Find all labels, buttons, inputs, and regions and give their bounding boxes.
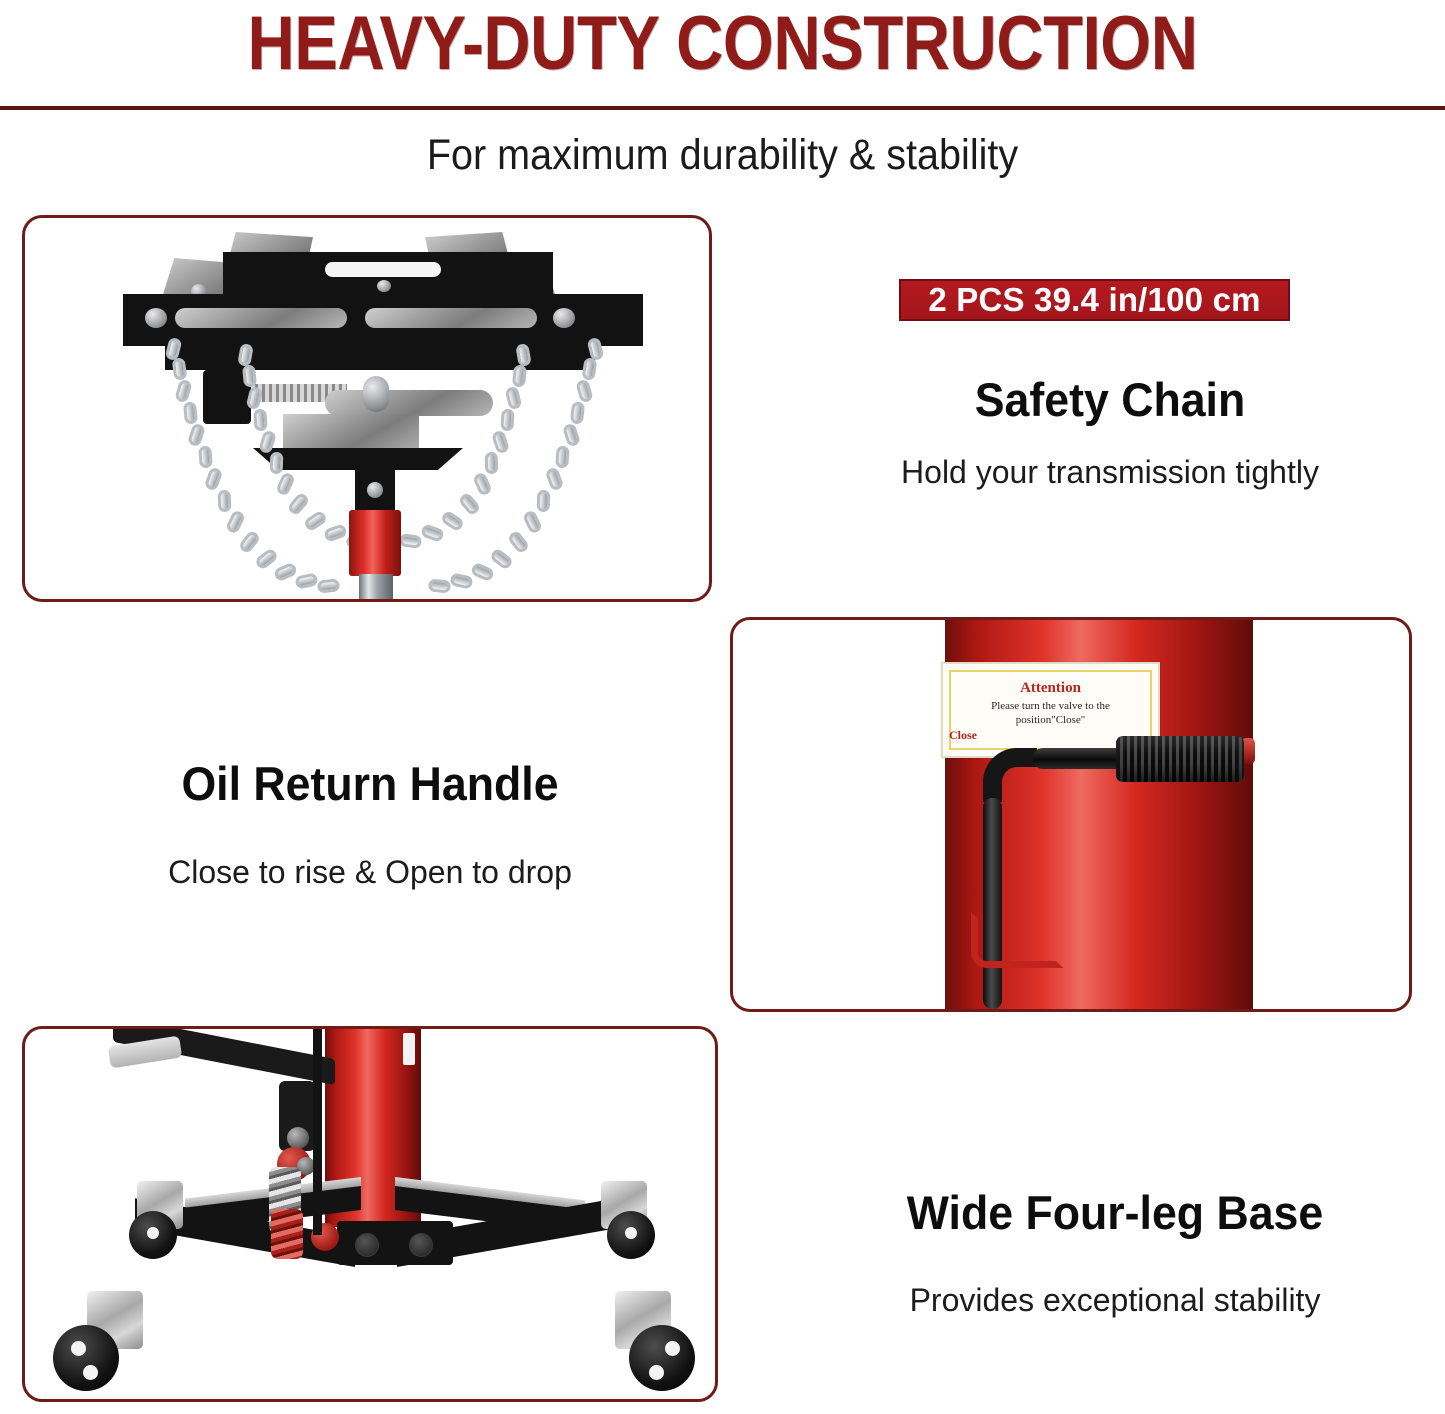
photo-panel-oil-return-handle: Attention Please turn the valve to the p… (730, 617, 1412, 1012)
feature-heading-four-leg-base: Wide Four-leg Base (844, 1185, 1386, 1241)
saddle-photo (25, 218, 709, 599)
pump-rod (313, 1029, 322, 1235)
photo-panel-safety-chain (22, 215, 712, 602)
chrome-ram (359, 574, 393, 602)
red-cylinder-collar (349, 510, 401, 576)
base-photo (25, 1029, 715, 1399)
page-subtitle: For maximum durability & stability (58, 128, 1387, 182)
feature-heading-oil-return-handle: Oil Return Handle (76, 756, 665, 812)
beam-bolt-right (553, 308, 575, 328)
handle-grip (1116, 736, 1244, 782)
saddle-beam-slot-right (365, 308, 537, 328)
caster-wheel-hole-fl-1 (71, 1341, 86, 1356)
header-divider (0, 106, 1445, 110)
handle-retaining-hook (971, 912, 1063, 968)
feature-subtitle-safety-chain: Hold your transmission tightly (830, 452, 1390, 492)
shaft-collar (363, 376, 389, 412)
attention-label-corner-text: Close (949, 728, 977, 743)
feature-subtitle-four-leg-base: Provides exceptional stability (830, 1280, 1400, 1320)
badge-safety-chain-length: 2 PCS 39.4 in/100 cm (899, 279, 1290, 321)
handle-photo: Attention Please turn the valve to the p… (733, 620, 1409, 1009)
caster-wheel-hole-fr-1 (665, 1341, 680, 1356)
attention-label-title: Attention (943, 680, 1158, 697)
saddle-rail-slot (325, 262, 441, 277)
attention-label-line1: Please turn the valve to the (943, 700, 1158, 713)
caster-wheel-hole-rl (147, 1227, 159, 1239)
caster-wheel-front-left (53, 1325, 119, 1391)
caster-wheel-hole-fr-2 (649, 1365, 664, 1380)
beam-bolt-left (145, 308, 167, 328)
column-spec-tag (403, 1033, 415, 1065)
feature-subtitle-oil-return-handle: Close to rise & Open to drop (60, 852, 680, 892)
caster-wheel-front-right (629, 1325, 695, 1391)
attention-label-line2: position"Close" (943, 714, 1158, 727)
caster-wheel-hole-rr (625, 1227, 637, 1239)
saddle-beam-slot-left (175, 308, 347, 328)
stem-bolt (367, 482, 383, 498)
handle-shaft-vertical (983, 798, 1002, 1009)
saddle-center-bolt (377, 280, 391, 292)
base-mount-hole-left (355, 1233, 379, 1257)
base-mount-hole-right (409, 1233, 433, 1257)
infographic-page: HEAVY-DUTY CONSTRUCTION For maximum dura… (0, 0, 1445, 1414)
handle-shaft-horizontal (1033, 748, 1128, 769)
pedal-pivot-upper (287, 1127, 309, 1149)
return-spring-lower (271, 1209, 303, 1259)
photo-panel-four-leg-base (22, 1026, 718, 1402)
feature-heading-safety-chain: Safety Chain (844, 372, 1376, 428)
page-title: HEAVY-DUTY CONSTRUCTION (101, 0, 1344, 90)
caster-wheel-hole-fl-2 (83, 1365, 98, 1380)
cross-shaft (325, 390, 493, 416)
